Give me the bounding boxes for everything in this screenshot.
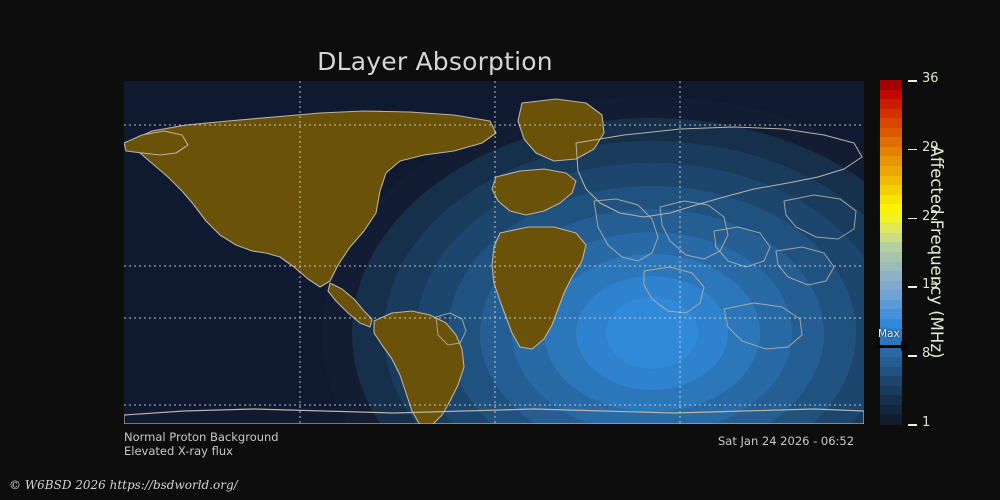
max-marker: Max: [877, 333, 917, 355]
page-title: DLayer Absorption: [0, 47, 870, 76]
timestamp: Sat Jan 24 2026 - 06:52: [718, 434, 854, 448]
colorbar-tick-mark: [908, 424, 917, 426]
colorbar-axis-label: Affected Frequency (MHz): [925, 80, 947, 424]
copyright-notice: © W6BSD 2026 https://bsdworld.org/: [9, 478, 238, 492]
colorbar-tick-mark: [908, 218, 917, 220]
colorbar-tick-mark: [908, 149, 917, 151]
colorbar-gradient: [880, 80, 902, 424]
note-xray-flux: Elevated X-ray flux: [124, 444, 233, 459]
world-map-panel[interactable]: [124, 81, 864, 424]
note-proton-background: Normal Proton Background: [124, 430, 279, 445]
colorbar-tick-mark: [908, 355, 917, 357]
world-map[interactable]: [124, 81, 864, 424]
max-arrow-head: [901, 341, 909, 351]
dlayer-absorption-figure: DLayer Absorption: [0, 0, 1000, 500]
colorbar-tick-mark: [908, 80, 917, 82]
colorbar[interactable]: 3629221581: [880, 80, 902, 424]
colorbar-tick: 1: [902, 424, 962, 425]
colorbar-tick-mark: [908, 286, 917, 288]
colorbar-segment: [880, 414, 902, 424]
max-marker-label: Max: [878, 329, 900, 340]
max-arrow-line: [877, 345, 903, 347]
